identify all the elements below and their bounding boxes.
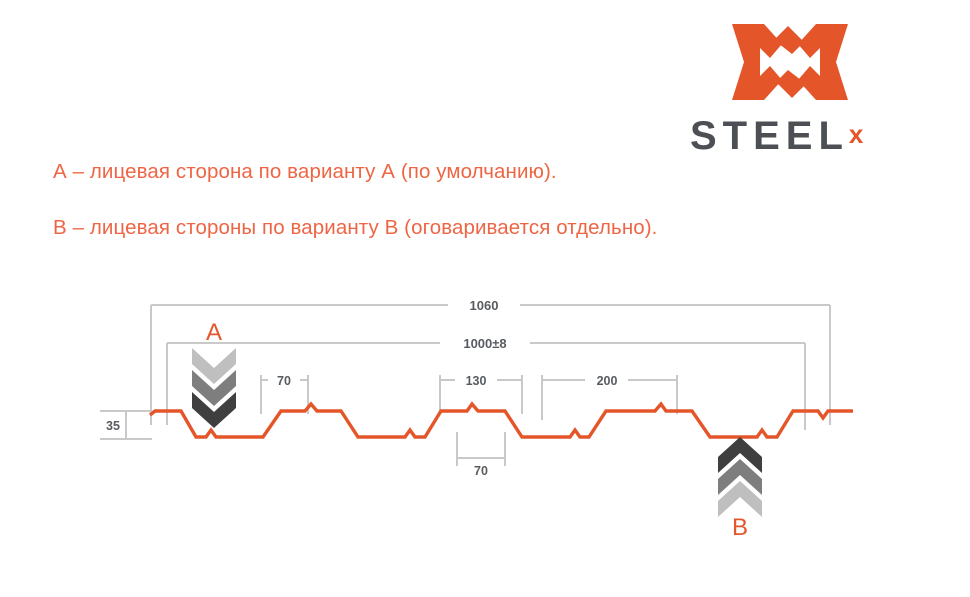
chevron-down-triple-icon	[192, 348, 236, 428]
note-variant-b: В – лицевая стороны по варианту В (огова…	[53, 216, 657, 240]
logo-wordmark: STEELx	[690, 114, 902, 154]
profile-technical-drawing: 1060 1000±8 70 130 200 70 35 А	[0, 280, 970, 570]
chevron-up-triple-icon	[718, 437, 762, 517]
logo-superscript-x: x	[849, 119, 863, 149]
note-variant-a: А – лицевая сторона по варианту А (по ум…	[53, 160, 557, 184]
dimension-label-70-top: 70	[277, 374, 291, 388]
trapezoidal-profile-section	[150, 404, 853, 437]
dimension-label-1000: 1000±8	[463, 336, 506, 351]
dimension-label-70-bottom: 70	[474, 464, 488, 478]
brand-logo: STEELx	[690, 22, 902, 147]
dimension-label-35: 35	[106, 419, 120, 433]
marker-b-letter: В	[732, 514, 748, 541]
logo-wordmark-text: STEEL	[690, 114, 849, 158]
steelx-x-logo-icon	[730, 22, 850, 102]
marker-a: А	[192, 319, 236, 428]
page-canvas: STEELx А – лицевая сторона по варианту А…	[0, 0, 970, 597]
dimension-label-1060: 1060	[470, 298, 499, 313]
dimension-label-200: 200	[597, 374, 618, 388]
marker-b: В	[718, 437, 762, 541]
marker-a-letter: А	[206, 319, 222, 346]
dimension-label-130: 130	[466, 374, 487, 388]
